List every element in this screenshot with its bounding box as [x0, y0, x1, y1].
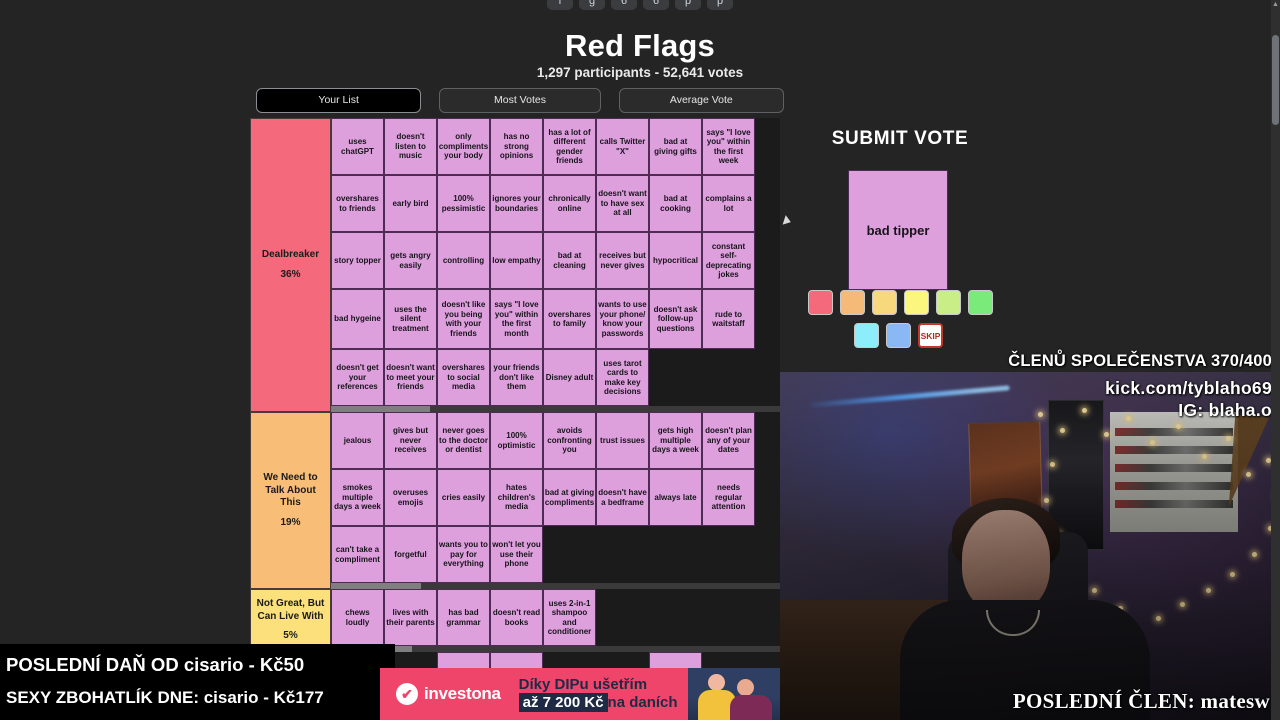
tier-item[interactable]: early bird — [384, 175, 437, 232]
tier-item[interactable]: rude to waitstaff — [702, 289, 755, 349]
vote-swatch-6[interactable] — [968, 290, 993, 315]
tier-item[interactable]: can't take a compliment — [331, 526, 384, 583]
tier-item[interactable]: gets angry easily — [384, 232, 437, 289]
tier-horizontal-scrollbar[interactable] — [331, 646, 780, 652]
tier-item-empty — [596, 589, 649, 646]
tier-label[interactable]: Not Great, But Can Live With5% — [250, 589, 331, 652]
tier-rows: jealousgives but never receivesnever goe… — [331, 412, 780, 589]
tier-item[interactable]: complains a lot — [702, 175, 755, 232]
tier-item[interactable]: overshares to family — [543, 289, 596, 349]
tier-label[interactable]: We Need to Talk About This19% — [250, 412, 331, 589]
tier-list[interactable]: Dealbreaker36%uses chatGPTdoesn't listen… — [250, 118, 780, 720]
scrollbar-thumb[interactable] — [331, 583, 421, 589]
tier-item[interactable]: doesn't read books — [490, 589, 543, 646]
tier-1: Dealbreaker36%uses chatGPTdoesn't listen… — [250, 118, 780, 412]
tier-item[interactable]: receives but never gives — [596, 232, 649, 289]
tier-item[interactable]: overuses emojis — [384, 469, 437, 526]
vote-card[interactable]: bad tipper — [848, 170, 948, 290]
tier-item[interactable]: cries easily — [437, 469, 490, 526]
tier-row: jealousgives but never receivesnever goe… — [331, 412, 780, 469]
tier-row: smokes multiple days a weekoveruses emoj… — [331, 469, 780, 526]
last-member-overlay: POSLEDNÍ ČLEN: matesw — [1013, 689, 1270, 714]
page-scrollbar[interactable]: ▲ — [1271, 0, 1280, 720]
tier-item[interactable]: gets high multiple days a week — [649, 412, 702, 469]
tier-item[interactable]: says "I love you" within the first week — [702, 118, 755, 175]
tier-item[interactable]: doesn't ask follow-up questions — [649, 289, 702, 349]
tier-item[interactable]: needs regular attention — [702, 469, 755, 526]
tier-percent: 5% — [283, 630, 297, 643]
tier-item[interactable]: ignores your boundaries — [490, 175, 543, 232]
tier-item[interactable]: controlling — [437, 232, 490, 289]
kick-url-overlay: kick.com/tyblaho69 — [1105, 378, 1272, 399]
top-strip-button[interactable]: g — [579, 0, 605, 10]
tier-item[interactable]: 100% optimistic — [490, 412, 543, 469]
scrollbar-thumb[interactable] — [331, 406, 430, 412]
tier-item[interactable]: Disney adult — [543, 349, 596, 406]
tier-item[interactable]: 100% pessimistic — [437, 175, 490, 232]
tier-horizontal-scrollbar[interactable] — [331, 406, 780, 412]
stream-webcam — [780, 372, 1280, 720]
tier-item[interactable]: overshares to friends — [331, 175, 384, 232]
tier-item-empty — [596, 526, 649, 583]
tier-item[interactable]: story topper — [331, 232, 384, 289]
tier-row: doesn't get your referencesdoesn't want … — [331, 349, 780, 406]
tier-label-name: Not Great, But Can Live With — [254, 598, 327, 623]
tier-item[interactable]: uses the silent treatment — [384, 289, 437, 349]
tier-item[interactable]: bad at cooking — [649, 175, 702, 232]
tier-item-empty — [649, 349, 702, 406]
view-tabs: Your List Most Votes Average Vote — [256, 88, 784, 113]
tier-item[interactable]: has no strong opinions — [490, 118, 543, 175]
last-tax-overlay: POSLEDNÍ DAŇ OD cisario - Kč50 — [6, 654, 304, 676]
vote-swatch-2[interactable] — [840, 290, 865, 315]
tab-average-vote[interactable]: Average Vote — [619, 88, 784, 113]
tier-item[interactable]: overshares to social media — [437, 349, 490, 406]
tier-item[interactable]: avoids confronting you — [543, 412, 596, 469]
tab-most-votes[interactable]: Most Votes — [439, 88, 600, 113]
tier-item[interactable]: doesn't want to have sex at all — [596, 175, 649, 232]
tier-item[interactable]: jealous — [331, 412, 384, 469]
tab-your-list[interactable]: Your List — [256, 88, 421, 113]
tier-item[interactable]: uses tarot cards to make key decisions — [596, 349, 649, 406]
scrollbar-thumb[interactable] — [1272, 35, 1279, 125]
vote-swatch-7[interactable] — [854, 323, 879, 348]
tier-3: Not Great, But Can Live With5%chews loud… — [250, 589, 780, 652]
vote-swatch-5[interactable] — [936, 290, 961, 315]
top-strip-button[interactable]: f — [547, 0, 573, 10]
members-counter-overlay: ČLENŮ SPOLEČENSTVA 370/400 — [1008, 352, 1272, 371]
vote-swatch-row-primary — [808, 290, 1008, 315]
tier-item-empty — [702, 589, 755, 646]
tier-item[interactable]: says "I love you" within the first month — [490, 289, 543, 349]
tier-percent: 19% — [280, 517, 300, 530]
tier-row: can't take a complimentforgetfulwants yo… — [331, 526, 780, 583]
tier-item[interactable]: bad hygeine — [331, 289, 384, 349]
ad-copy: Díky DIPu ušetřím až 7 200 Kčna daních — [519, 677, 678, 711]
tier-item[interactable]: doesn't have a bedframe — [596, 469, 649, 526]
ad-brand-name: investona — [424, 684, 501, 704]
top-strip-button[interactable]: 6 — [643, 0, 669, 10]
tier-item[interactable]: calls Twitter "X" — [596, 118, 649, 175]
vote-swatch-3[interactable] — [872, 290, 897, 315]
ad-line-2-rest: na daních — [608, 694, 678, 711]
tier-item[interactable]: smokes multiple days a week — [331, 469, 384, 526]
submit-vote-panel: SUBMIT VOTE bad tipper SKIP — [780, 118, 1020, 368]
tier-item-empty — [702, 349, 755, 406]
tier-row: uses chatGPTdoesn't listen to musiconly … — [331, 118, 780, 175]
tier-item[interactable]: wants you to pay for everything — [437, 526, 490, 583]
tier-item[interactable]: lives with their parents — [384, 589, 437, 646]
tier-item-empty — [543, 526, 596, 583]
tier-item[interactable]: wants to use your phone/ know your passw… — [596, 289, 649, 349]
top-strip-button[interactable]: p — [675, 0, 701, 10]
tier-label-name: We Need to Talk About This — [254, 472, 327, 510]
skip-button[interactable]: SKIP — [918, 323, 943, 348]
tier-row: bad hygeineuses the silent treatmentdoes… — [331, 289, 780, 349]
vote-swatch-1[interactable] — [808, 290, 833, 315]
ad-photo — [688, 668, 780, 720]
tier-rows: uses chatGPTdoesn't listen to musiconly … — [331, 118, 780, 412]
tier-item[interactable]: doesn't plan any of your dates — [702, 412, 755, 469]
participant-stats: 1,297 participants - 52,641 votes — [0, 65, 1280, 80]
checkmark-icon: ✔ — [396, 683, 418, 705]
tier-rows: chews loudlylives with their parentshas … — [331, 589, 780, 652]
tier-item[interactable]: low empathy — [490, 232, 543, 289]
ad-line-1: Díky DIPu ušetřím — [519, 677, 678, 693]
page-title: Red Flags — [0, 28, 1280, 64]
ad-highlight: až 7 200 Kč — [519, 693, 608, 712]
tier-item[interactable]: won't let you use their phone — [490, 526, 543, 583]
tier-item[interactable]: chronically online — [543, 175, 596, 232]
tier-item[interactable]: forgetful — [384, 526, 437, 583]
tier-item[interactable]: bad at giving gifts — [649, 118, 702, 175]
tier-item[interactable]: has bad grammar — [437, 589, 490, 646]
vote-swatch-4[interactable] — [904, 290, 929, 315]
vote-swatch-row-secondary: SKIP — [854, 323, 1054, 348]
tier-label-name: Dealbreaker — [262, 249, 319, 262]
tier-item[interactable]: has a lot of different gender friends — [543, 118, 596, 175]
tier-item[interactable]: uses chatGPT — [331, 118, 384, 175]
camera-vignette — [780, 372, 1280, 720]
tier-item[interactable]: constant self-deprecating jokes — [702, 232, 755, 289]
tier-item[interactable]: doesn't get your references — [331, 349, 384, 406]
tier-item[interactable]: uses 2-in-1 shampoo and conditioner — [543, 589, 596, 646]
tier-item-empty — [649, 526, 702, 583]
tier-item[interactable]: never goes to the doctor or dentist — [437, 412, 490, 469]
ad-line-2: až 7 200 Kčna daních — [519, 695, 678, 711]
tier-row: story toppergets angry easilycontrolling… — [331, 232, 780, 289]
vote-swatch-8[interactable] — [886, 323, 911, 348]
tier-item[interactable]: gives but never receives — [384, 412, 437, 469]
tier-item[interactable]: bad at giving compliments — [543, 469, 596, 526]
tier-item[interactable]: only compliments your body — [437, 118, 490, 175]
tier-item[interactable]: doesn't listen to music — [384, 118, 437, 175]
last-rich-overlay: SEXY ZBOHATLÍK DNE: cisario - Kč177 — [6, 688, 324, 708]
top-strip-button[interactable]: p — [707, 0, 733, 10]
tier-item[interactable]: doesn't want to meet your friends — [384, 349, 437, 406]
instagram-overlay: IG: blaha.o — [1178, 400, 1272, 421]
tier-item[interactable]: hates children's media — [490, 469, 543, 526]
app-root: f g 6 6 p p Red Flags 1,297 participants… — [0, 0, 1280, 720]
tier-horizontal-scrollbar[interactable] — [331, 583, 780, 589]
tier-item[interactable]: your friends don't like them — [490, 349, 543, 406]
tier-item[interactable]: trust issues — [596, 412, 649, 469]
ad-banner[interactable]: ✔ investona Díky DIPu ušetřím až 7 200 K… — [380, 668, 780, 720]
tier-item[interactable]: bad at cleaning — [543, 232, 596, 289]
tier-row: chews loudlylives with their parentshas … — [331, 589, 780, 646]
tier-item-empty — [702, 526, 755, 583]
tier-item[interactable]: always late — [649, 469, 702, 526]
tier-label[interactable]: Dealbreaker36% — [250, 118, 331, 412]
tier-item[interactable]: doesn't like you being with your friends — [437, 289, 490, 349]
tier-item[interactable]: chews loudly — [331, 589, 384, 646]
submit-vote-title: SUBMIT VOTE — [780, 128, 1020, 150]
tier-row: overshares to friendsearly bird100% pess… — [331, 175, 780, 232]
tier-percent: 36% — [280, 269, 300, 282]
ad-brand: ✔ investona — [396, 683, 501, 705]
top-strip-button[interactable]: 6 — [611, 0, 637, 10]
top-button-strip: f g 6 6 p p — [0, 0, 1280, 10]
tier-2: We Need to Talk About This19%jealousgive… — [250, 412, 780, 589]
tier-item-empty — [649, 589, 702, 646]
tier-item[interactable]: hypocritical — [649, 232, 702, 289]
